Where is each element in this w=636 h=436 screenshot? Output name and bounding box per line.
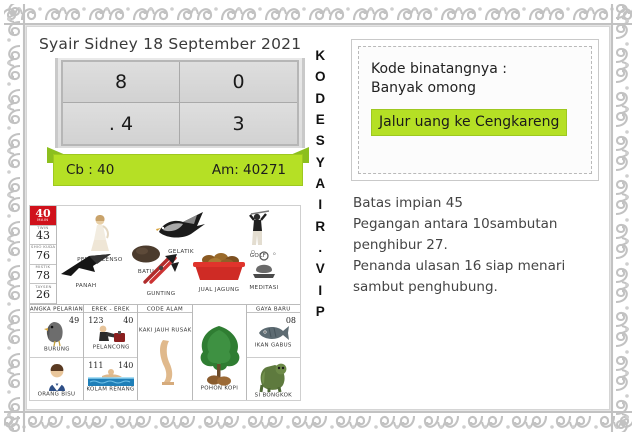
note-line: Penanda ulasan 16 siap menari bbox=[353, 256, 599, 277]
spine-char: R bbox=[315, 216, 325, 237]
golfer-icon bbox=[245, 208, 271, 248]
panel-item: 08 IKAN GABUS bbox=[247, 313, 300, 357]
collage-bottom-panels: ANGKA PELARIAN 49 bbox=[30, 305, 300, 401]
panel-header: CODE ALAM bbox=[138, 305, 191, 313]
eagle-icon bbox=[42, 319, 72, 347]
syair-page: Syair Sidney 18 September 2021 8 0 . 4 3… bbox=[0, 0, 636, 436]
panel-item-number-right: 40 bbox=[123, 316, 133, 325]
spine-char: I bbox=[318, 280, 322, 301]
picture-jual-jagung: JUAL JAGUNG bbox=[191, 250, 247, 291]
green-ribbon-banner: Cb : 40 Am: 40271 bbox=[47, 154, 309, 186]
panel-item-caption: POHON KOPI bbox=[205, 386, 234, 390]
cb-value: Cb : 40 bbox=[66, 162, 114, 178]
content-area: Syair Sidney 18 September 2021 8 0 . 4 3… bbox=[27, 27, 609, 409]
left-column: Syair Sidney 18 September 2021 8 0 . 4 3… bbox=[27, 27, 305, 409]
panel-item-caption: IKAN GABUS bbox=[259, 343, 287, 347]
spine-char: E bbox=[316, 109, 325, 130]
number-grid: 8 0 . 4 3 bbox=[61, 60, 299, 146]
panel-item: POHON KOPI bbox=[193, 312, 246, 401]
number-grid-wrapper: 8 0 . 4 3 bbox=[61, 58, 299, 148]
spine-char: I bbox=[318, 194, 322, 215]
panel-header: EREK - EREK bbox=[84, 305, 137, 313]
panel-item-number-right: 140 bbox=[118, 361, 133, 370]
panel-code-alam: CODE ALAM KAKI JAUH RUSAK bbox=[138, 305, 192, 401]
picture-caption: GUNTING bbox=[134, 291, 188, 297]
code-line-2: Banyak omong bbox=[371, 79, 579, 98]
panel-item-caption: KOLAM RENANG bbox=[92, 387, 129, 391]
panel-item-caption: ORANG BISU bbox=[42, 392, 71, 396]
panel-body: 49 BURUNG bbox=[30, 313, 83, 401]
hunchback-icon bbox=[253, 361, 293, 393]
scissors-icon bbox=[141, 252, 181, 286]
grid-cell-1: 8 bbox=[63, 62, 180, 103]
panel-body: KAKI JAUH RUSAK bbox=[138, 313, 191, 401]
leg-icon bbox=[150, 338, 180, 386]
am-value: Am: 40271 bbox=[212, 162, 290, 178]
dancer-icon bbox=[87, 214, 113, 252]
code-box: Kode binatangnya : Banyak omong Jalur ua… bbox=[351, 39, 599, 181]
note-line: penghibur 27. bbox=[353, 235, 599, 256]
number-cell-main: 40 MAIN bbox=[30, 206, 56, 226]
panel-item: 123 40 PELANCONG bbox=[84, 313, 137, 357]
panel-item: 111 140 KOLAM RENANG bbox=[84, 358, 137, 401]
corn-basket-icon bbox=[191, 250, 247, 282]
collage-top-section: 40 MAIN TWIN 43 SHIO KUDA 76 MISTIK bbox=[30, 206, 300, 305]
svg-text:o: o bbox=[273, 252, 276, 257]
code-box-inner: Kode binatangnya : Banyak omong Jalur ua… bbox=[358, 46, 592, 174]
number-cell-shio: SHIO KUDA 76 bbox=[30, 245, 56, 265]
number-caption: SHIO KUDA bbox=[31, 247, 55, 251]
panel-body: 123 40 PELANCONG bbox=[84, 313, 137, 401]
page-title: Syair Sidney 18 September 2021 bbox=[33, 33, 305, 53]
number-cell-mistik: MISTIK 78 bbox=[30, 265, 56, 285]
panel-item-caption: PELANCONG bbox=[97, 345, 125, 349]
right-column: Kode binatangnya : Banyak omong Jalur ua… bbox=[347, 27, 609, 409]
number-caption: MAIN bbox=[37, 219, 48, 223]
person-icon bbox=[43, 362, 71, 392]
number-caption: TWIN bbox=[37, 227, 48, 231]
ribbon-body: Cb : 40 Am: 40271 bbox=[53, 154, 303, 186]
fish-icon bbox=[255, 323, 291, 343]
spine-char: V bbox=[316, 258, 325, 279]
number-value: 78 bbox=[36, 270, 50, 282]
spine-char: Y bbox=[316, 152, 325, 173]
code-highlight: Jalur uang ke Cengkareng bbox=[371, 109, 567, 136]
picture-caption: MEDITASI bbox=[244, 285, 285, 291]
spine-char: D bbox=[315, 88, 325, 109]
panel-body: POHON KOPI bbox=[193, 312, 246, 401]
tree-icon bbox=[193, 324, 245, 386]
panel-item: 49 BURUNG bbox=[30, 313, 83, 357]
spine-column: K O D E S Y A I R . V I P bbox=[305, 27, 347, 409]
bird-icon bbox=[153, 210, 209, 244]
spine-char: . bbox=[318, 237, 322, 258]
picture-gelatik: GELATIK bbox=[153, 210, 209, 253]
spine-char: S bbox=[316, 130, 325, 151]
panel-item: KAKI JAUH RUSAK bbox=[138, 313, 191, 401]
number-value: 43 bbox=[36, 230, 50, 242]
panel-angka-pelarian: ANGKA PELARIAN 49 bbox=[30, 305, 84, 401]
grid-cell-4: 3 bbox=[180, 103, 297, 144]
panel-gaya-baru: GAYA BARU 08 IKAN GABUS bbox=[247, 305, 300, 401]
prediction-collage: 40 MAIN TWIN 43 SHIO KUDA 76 MISTIK bbox=[29, 205, 301, 401]
code-line-1: Kode binatangnya : bbox=[371, 60, 579, 79]
panel-item: ORANG BISU bbox=[30, 358, 83, 401]
picture-meditasi: O o MEDITASI bbox=[249, 248, 279, 289]
panel-body: 08 IKAN GABUS bbox=[247, 313, 300, 401]
meditation-icon: O o bbox=[249, 248, 279, 280]
panel-header: GAYA BARU bbox=[247, 305, 300, 313]
panel-item-number-left: 111 bbox=[88, 361, 103, 370]
notes-block: Batas impian 45 Pegangan antara 10sambut… bbox=[353, 193, 599, 298]
grid-cell-2: 0 bbox=[180, 62, 297, 103]
panel-pohon-kopi: POHON KOPI bbox=[193, 305, 247, 401]
note-line: sambut penghubung. bbox=[353, 277, 599, 298]
arrow-icon bbox=[59, 252, 113, 278]
number-value: 26 bbox=[36, 289, 50, 301]
panel-header: ANGKA PELARIAN bbox=[30, 305, 83, 313]
spine-char: O bbox=[315, 66, 326, 87]
spine-char: K bbox=[315, 45, 325, 66]
top-picture-grid: PENARI LENSO BATU bbox=[57, 206, 300, 304]
number-value: 76 bbox=[36, 250, 50, 262]
panel-item-caption: SI BONGKOK bbox=[259, 393, 288, 397]
picture-gunting: GUNTING bbox=[141, 252, 181, 295]
picture-panah: PANAH bbox=[59, 252, 113, 287]
note-line: Batas impian 45 bbox=[353, 193, 599, 214]
panel-item-caption: KAKI JAUH RUSAK bbox=[145, 328, 186, 332]
panel-item-number: 49 bbox=[69, 316, 79, 325]
note-line: Pegangan antara 10sambutan bbox=[353, 214, 599, 235]
picture-caption: PANAH bbox=[50, 283, 123, 289]
number-caption: MISTIK bbox=[36, 266, 51, 270]
number-cell-twin: TWIN 43 bbox=[30, 226, 56, 246]
panel-item-number: 08 bbox=[286, 316, 296, 325]
number-column: 40 MAIN TWIN 43 SHIO KUDA 76 MISTIK bbox=[30, 206, 57, 304]
vertical-brand-text: K O D E S Y A I R . V I P bbox=[315, 45, 326, 322]
spine-char: P bbox=[316, 301, 325, 322]
panel-erek-erek: EREK - EREK 123 40 bbox=[84, 305, 138, 401]
spine-char: A bbox=[315, 173, 325, 194]
panel-item-number-left: 123 bbox=[88, 316, 103, 325]
panel-item: SI BONGKOK bbox=[247, 358, 300, 401]
panel-item-caption: BURUNG bbox=[47, 347, 67, 351]
svg-text:O: O bbox=[251, 250, 255, 256]
grid-cell-3: . 4 bbox=[63, 103, 180, 144]
